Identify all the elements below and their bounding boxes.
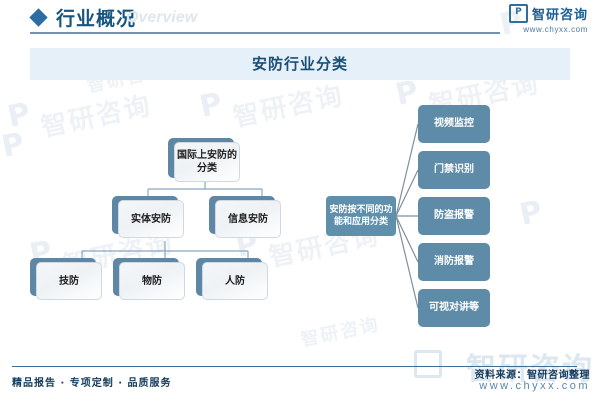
tree-node-info-security[interactable]: 信息安防 xyxy=(215,200,281,238)
tree-node-label: 实体安防 xyxy=(131,213,171,226)
group-node-label: 安防按不同的功能和应用分类 xyxy=(329,204,393,228)
tree-node-entity-security[interactable]: 实体安防 xyxy=(118,200,184,238)
chart-title-banner: 安防行业分类 xyxy=(30,48,570,80)
footer-source: 资料来源：智研咨询整理 xyxy=(475,366,591,381)
page-title: 行业概况 xyxy=(56,4,136,31)
footer-slogan: 精品报告 · 专项定制 · 品质服务 xyxy=(12,374,172,389)
slide-footer: 智研咨询 精品报告 · 专项定制 · 品质服务 资料来源：智研咨询整理 www.… xyxy=(0,348,600,410)
tree-node-label: 信息安防 xyxy=(228,213,268,226)
group-item-access-control[interactable]: 门禁识别 xyxy=(418,151,490,189)
footer-watermark-mark xyxy=(414,350,442,378)
group-item-label: 防盗报警 xyxy=(434,209,474,223)
slide-header: 行业概况 Overview P 智研咨询 www.chyxx.com xyxy=(0,0,600,42)
tree-node-label: 技防 xyxy=(59,275,79,288)
footer-url: www.chyxx.com xyxy=(479,380,590,392)
chart-title: 安防行业分类 xyxy=(30,48,570,80)
brand-logo: P 智研咨询 xyxy=(509,4,588,23)
group-item-burglar-alarm[interactable]: 防盗报警 xyxy=(418,197,490,235)
header-url: www.chyxx.com xyxy=(523,25,588,34)
group-item-video-intercom[interactable]: 可视对讲等 xyxy=(418,289,490,327)
tree-node-human-defense[interactable]: 人防 xyxy=(202,262,268,300)
group-item-video-surveillance[interactable]: 视频监控 xyxy=(418,105,490,143)
group-item-fire-alarm[interactable]: 消防报警 xyxy=(418,243,490,281)
header-divider xyxy=(30,32,500,34)
page-subtitle: Overview xyxy=(126,9,197,27)
brand-name: 智研咨询 xyxy=(532,4,588,23)
slide-page: P 智研咨询 P P 智研咨询 P 智研咨询 P 智研咨询 P 智研咨询 P 智… xyxy=(0,0,600,410)
group-item-label: 门禁识别 xyxy=(434,163,474,177)
group-node-center[interactable]: 安防按不同的功能和应用分类 xyxy=(326,196,396,236)
connector-lines xyxy=(0,84,600,346)
tree-node-label: 国际上安防的分类 xyxy=(175,149,239,175)
tree-node-tech-defense[interactable]: 技防 xyxy=(36,262,102,300)
tree-node-label: 人防 xyxy=(225,275,245,288)
group-item-label: 消防报警 xyxy=(434,255,474,269)
tree-node-physical-defense[interactable]: 物防 xyxy=(119,262,185,300)
tree-node-root[interactable]: 国际上安防的分类 xyxy=(174,142,240,182)
brand-mark-icon: P xyxy=(509,4,528,23)
group-item-label: 可视对讲等 xyxy=(429,301,479,315)
diagram-canvas: 国际上安防的分类 实体安防 信息安防 技防 物防 人防 安防按不同的功能和应用分… xyxy=(0,84,600,346)
tree-node-label: 物防 xyxy=(142,275,162,288)
group-item-label: 视频监控 xyxy=(434,117,474,131)
diamond-icon xyxy=(29,8,47,26)
